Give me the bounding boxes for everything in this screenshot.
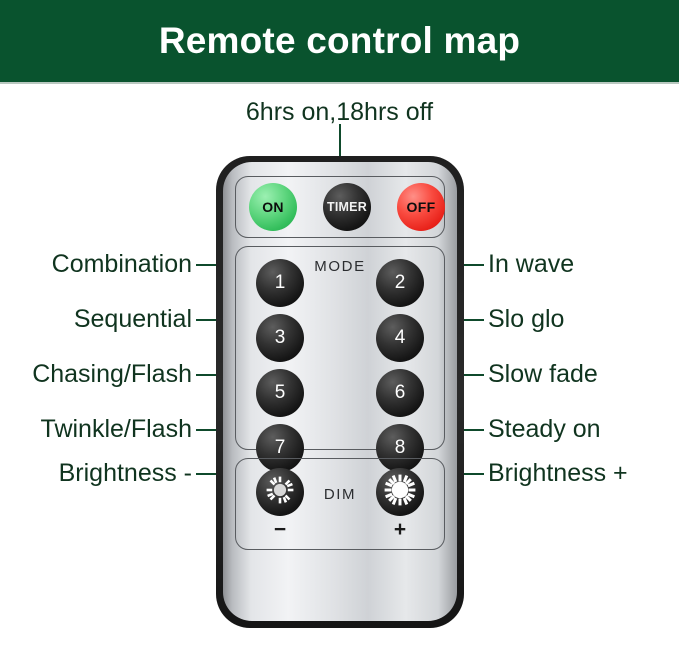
callout-slow-fade: Slow fade	[488, 362, 598, 387]
mode-button-3-label: 3	[275, 327, 286, 349]
remote-control-device: ON TIMER OFF MODE 1 2 3 4	[216, 156, 464, 628]
diagram-stage: 6hrs on,18hrs off Combination Sequential…	[0, 84, 679, 649]
callout-brightness-plus: Brightness +	[488, 461, 628, 486]
callout-combination: Combination	[0, 252, 192, 277]
callout-in-wave: In wave	[488, 252, 574, 277]
on-button-label: ON	[262, 199, 284, 215]
mode-button-3[interactable]: 3	[256, 314, 304, 362]
mode-button-5-label: 5	[275, 382, 286, 404]
off-button-label: OFF	[407, 199, 436, 215]
off-button[interactable]: OFF	[397, 183, 445, 231]
brightness-low-icon	[263, 473, 297, 512]
callout-chasing-flash: Chasing/Flash	[0, 362, 192, 387]
mode-button-6[interactable]: 6	[376, 369, 424, 417]
timer-button-label: TIMER	[327, 200, 367, 214]
mode-button-2[interactable]: 2	[376, 259, 424, 307]
timer-button[interactable]: TIMER	[323, 183, 371, 231]
mode-button-4-label: 4	[395, 327, 406, 349]
callout-steady-on: Steady on	[488, 417, 601, 442]
callout-sequential: Sequential	[0, 307, 192, 332]
on-button[interactable]: ON	[249, 183, 297, 231]
remote-faceplate: ON TIMER OFF MODE 1 2 3 4	[223, 162, 457, 621]
mode-button-1-label: 1	[275, 272, 286, 294]
brightness-down-button[interactable]	[256, 468, 304, 516]
callout-slo-glo: Slo glo	[488, 307, 564, 332]
mode-button-2-label: 2	[395, 272, 406, 294]
callout-brightness-minus: Brightness -	[0, 461, 192, 486]
callout-twinkle-flash: Twinkle/Flash	[0, 417, 192, 442]
mode-button-7-label: 7	[275, 437, 286, 459]
brightness-up-button[interactable]	[376, 468, 424, 516]
callout-timer-label: 6hrs on,18hrs off	[0, 100, 679, 125]
brightness-high-icon	[382, 472, 418, 513]
header-banner: Remote control map	[0, 0, 679, 82]
mode-button-6-label: 6	[395, 382, 406, 404]
mode-button-1[interactable]: 1	[256, 259, 304, 307]
brightness-plus-sign: +	[376, 518, 424, 542]
mode-button-8-label: 8	[395, 437, 406, 459]
mode-button-4[interactable]: 4	[376, 314, 424, 362]
brightness-minus-sign: −	[256, 518, 304, 542]
page-title: Remote control map	[159, 20, 520, 62]
mode-button-5[interactable]: 5	[256, 369, 304, 417]
